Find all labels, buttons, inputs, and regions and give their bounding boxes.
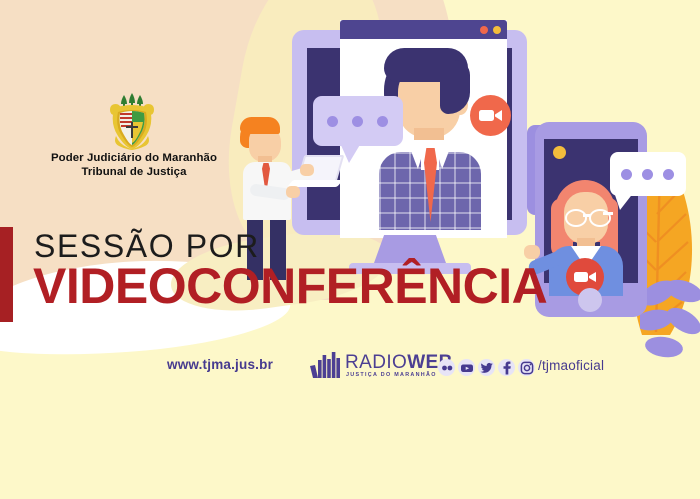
chat-dot	[642, 169, 653, 180]
chat-bubble-left	[313, 96, 403, 146]
window-dot-red	[480, 26, 488, 34]
instagram-icon[interactable]	[518, 359, 535, 376]
institution-line-1: Poder Judiciário do Maranhão	[0, 152, 268, 166]
radioweb-name-part1: RADIO	[345, 352, 407, 373]
glasses-arm-icon	[603, 212, 613, 215]
maranhao-coat-of-arms-icon	[104, 92, 160, 150]
chat-bubble-tail	[340, 143, 361, 163]
laptop-person-hand-left	[286, 186, 300, 198]
chat-dot	[327, 116, 338, 127]
radioweb-wordmark: RADIOWEB	[345, 352, 453, 374]
laptop-person-hand-right	[300, 164, 314, 176]
facebook-icon[interactable]	[498, 359, 515, 376]
glasses-lens-left-icon	[565, 209, 587, 227]
phone-home-button	[578, 288, 602, 312]
chat-dot	[377, 116, 388, 127]
chat-dot	[621, 169, 632, 180]
flickr-icon[interactable]	[438, 359, 455, 376]
sound-bars-icon	[310, 352, 342, 378]
institution-line-2: Tribunal de Justiça	[0, 166, 268, 180]
twitter-icon[interactable]	[478, 359, 495, 376]
social-handle[interactable]: /tjmaoficial	[538, 358, 604, 373]
website-url[interactable]: www.tjma.jus.br	[167, 357, 273, 372]
poster-canvas: Poder Judiciário do Maranhão Tribunal de…	[0, 0, 700, 499]
institution-name: Poder Judiciário do Maranhão Tribunal de…	[0, 152, 268, 179]
radioweb-tagline: JUSTIÇA DO MARANHÃO	[346, 372, 437, 378]
phone-status-led	[553, 146, 566, 159]
accent-bar-left	[0, 227, 13, 322]
video-camera-icon	[470, 95, 511, 136]
chat-bubble-right	[610, 152, 686, 196]
purple-leaves-icon	[640, 275, 700, 361]
title-line-2: VIDEOCONFERÊNCIA	[33, 258, 547, 314]
chat-dot	[663, 169, 674, 180]
window-dot-yellow	[493, 26, 501, 34]
video-camera-badge-monitor	[470, 95, 511, 136]
youtube-icon[interactable]	[458, 359, 475, 376]
laptop-person-hair-top	[240, 117, 280, 134]
chat-dot	[352, 116, 363, 127]
glasses-bridge-icon	[583, 214, 590, 217]
phone-person-hand	[524, 245, 540, 259]
